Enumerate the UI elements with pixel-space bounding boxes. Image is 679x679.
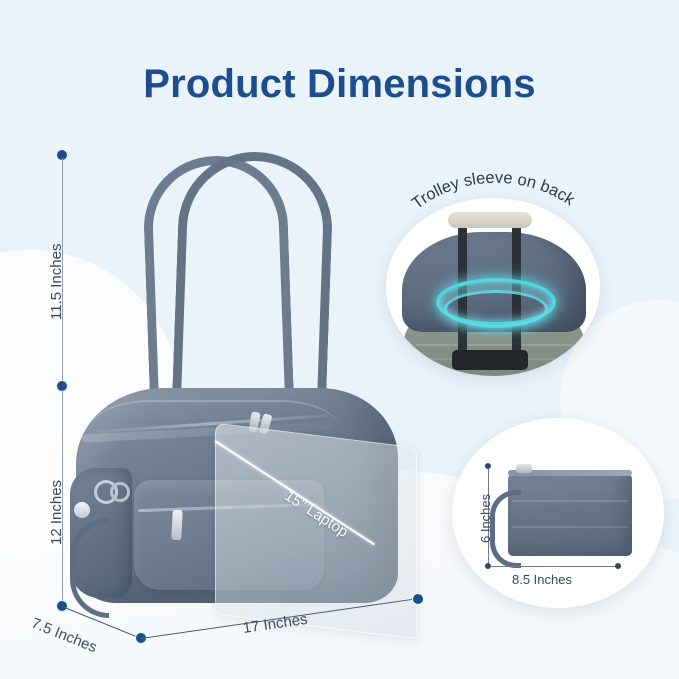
trolley-sleeve-inset	[386, 198, 600, 376]
pouch-height-label: 6 Inches	[478, 494, 493, 543]
dimension-endpoint-dot	[413, 594, 423, 604]
pouch-inset: 6 Inches 8.5 Inches	[452, 418, 664, 608]
dimension-endpoint-dot	[615, 563, 621, 569]
page-title: Product Dimensions	[0, 62, 679, 107]
bag-toggle-icon	[74, 502, 90, 518]
d-ring-icon	[110, 482, 130, 502]
zipper-pull-icon	[516, 464, 532, 473]
zipper-pull-icon	[171, 510, 183, 540]
pouch-illustration	[508, 474, 632, 556]
pouch-width-line	[490, 566, 618, 567]
trolley-handle-grip	[448, 212, 532, 228]
highlight-ring-icon	[444, 290, 548, 328]
infographic-canvas: Product Dimensions 15" Laptop 11.5 Inche…	[0, 0, 679, 679]
main-bag-illustration	[68, 150, 408, 630]
wristlet-strap	[490, 490, 521, 568]
pouch-width-label: 8.5 Inches	[512, 572, 572, 587]
bag-handle	[171, 149, 334, 421]
laptop-overlay	[215, 423, 417, 640]
trolley-base	[452, 350, 528, 370]
height-lower-label: 12 Inches	[48, 480, 65, 545]
height-upper-label: 11.5 Inches	[48, 244, 65, 320]
